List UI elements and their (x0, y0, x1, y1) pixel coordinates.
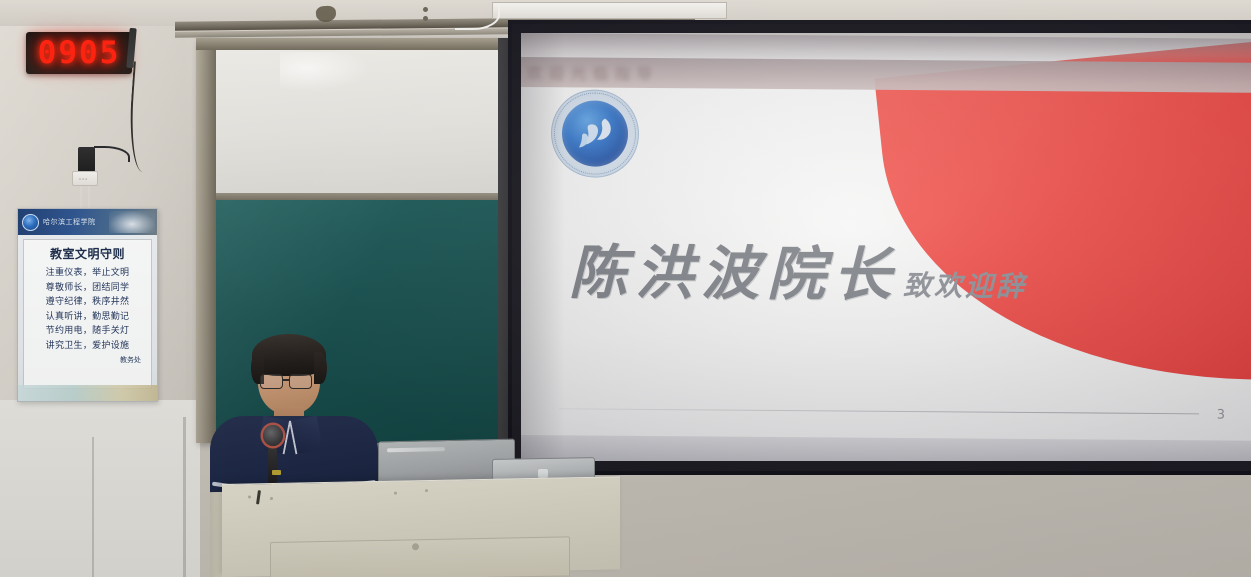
speaker-hair-right (314, 352, 327, 384)
wall-power-outlet[interactable]: ▫▫▫ (72, 171, 98, 186)
led-clock: 0905 (26, 32, 132, 74)
podium-screw (394, 492, 397, 495)
slide-page-number: 3 (1217, 407, 1225, 422)
projector-screen-bracket (492, 2, 727, 19)
podium-screw (248, 495, 251, 498)
slide-title-sub: 致欢迎辞 (903, 264, 1027, 305)
podium-screw (425, 489, 428, 492)
slide-header-text: 欢迎光临指导 (527, 62, 659, 84)
classroom-rules-poster: 哈尔滨工程学院 教室文明守则 注重仪表，举止文明 尊敬师长，团结同学 遵守纪律，… (17, 208, 158, 402)
podium-scuff-mark (256, 490, 261, 504)
poster-header-photo (109, 211, 155, 233)
slide-title-row: 陈洪波院长 致欢迎辞 (569, 225, 1027, 313)
lower-wall-panel (0, 400, 200, 577)
emblem-bird-icon (571, 111, 619, 155)
poster-footer-band (18, 385, 157, 401)
plug-adapter (78, 147, 95, 172)
poster-rule: 尊敬师长，团结同学 (26, 281, 149, 296)
poster-rule: 节约用电，随手关灯 (26, 324, 149, 339)
clock-time-display: 0905 (38, 35, 121, 71)
microphone-head[interactable] (263, 425, 283, 446)
ceiling-screw (423, 7, 428, 12)
podium-front-panel (270, 536, 570, 577)
poster-rule: 认真听讲，勤思勤记 (26, 310, 149, 325)
laptop-logo-icon (538, 469, 548, 478)
ceiling-screw (423, 16, 428, 21)
poster-organization: 哈尔滨工程学院 (43, 217, 96, 227)
wall-seam (92, 437, 94, 577)
university-emblem (551, 89, 639, 178)
slide-bottom-band (521, 435, 1251, 461)
poster-body: 教室文明守则 注重仪表，举止文明 尊敬师长，团结同学 遵守纪律，秩序井然 认真听… (23, 239, 152, 389)
glasses-bridge (283, 379, 290, 381)
wall-seam-secondary (183, 417, 186, 577)
classroom-scene: 0905 ▫▫▫ 哈尔滨工程学院 教室文明守则 注重仪表，举止文明 尊敬师长，团… (0, 0, 1251, 577)
glasses-left-lens (260, 374, 283, 389)
poster-rule: 讲究卫生，爱护设施 (26, 339, 149, 354)
school-logo-icon (22, 214, 39, 231)
poster-rule: 注重仪表，举止文明 (26, 266, 149, 281)
slide-footer-rule (559, 408, 1199, 414)
podium-screw (270, 497, 273, 500)
slide-title-main: 陈洪波院长 (569, 225, 899, 312)
board-top-edge (196, 38, 514, 50)
board-divider-rail (215, 193, 509, 200)
microphone-band (272, 470, 281, 475)
slide-glare (521, 33, 1251, 67)
podium (222, 476, 620, 577)
whiteboard-smudge (280, 52, 370, 92)
projection-screen: 欢迎光临指导 陈洪波院长 致欢迎辞 3 (521, 33, 1251, 461)
poster-title: 教室文明守则 (26, 245, 149, 262)
glasses-right-lens (289, 374, 312, 389)
poster-rule: 遵守纪律，秩序井然 (26, 295, 149, 310)
presentation-slide: 欢迎光临指导 陈洪波院长 致欢迎辞 3 (521, 33, 1251, 461)
poster-header: 哈尔滨工程学院 (18, 209, 157, 235)
poster-signature: 教务处 (26, 355, 149, 365)
outlet-socket-icon: ▫▫▫ (79, 177, 88, 183)
